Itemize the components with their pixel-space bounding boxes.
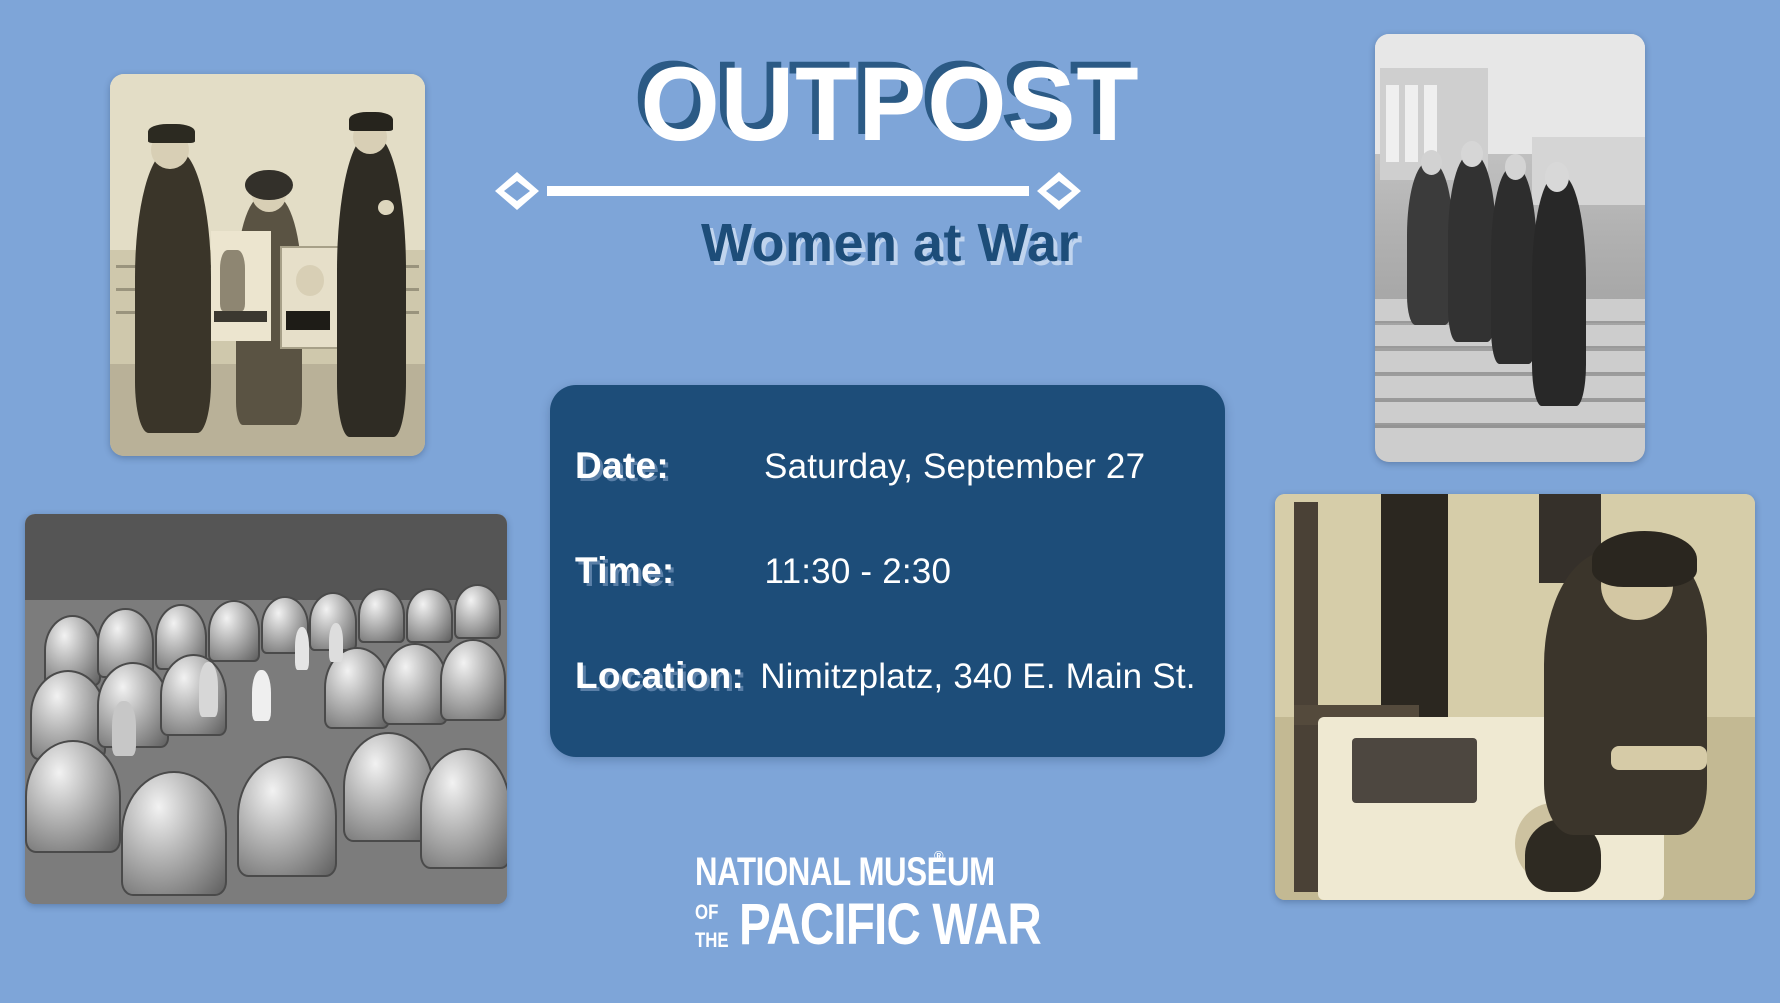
- detail-value-time: 11:30 - 2:30: [765, 552, 952, 592]
- museum-logo: NATIONAL MUSEUM ® OF THE PACIFIC WAR: [640, 838, 1080, 968]
- event-details-card: Date: Saturday, September 27 Time: 11:30…: [550, 385, 1225, 757]
- logo-word-of: OF: [695, 902, 718, 923]
- poster-title: OUTPOST: [502, 52, 1278, 157]
- photo-nurse: [1275, 494, 1755, 900]
- detail-label-date: Date:: [575, 445, 669, 487]
- poster-subtitle: Women at War: [490, 212, 1290, 274]
- detail-label-location: Location:: [575, 655, 744, 697]
- logo-word-the: THE: [695, 930, 729, 951]
- detail-row-location: Location: Nimitzplatz, 340 E. Main St.: [575, 655, 1196, 697]
- logo-line-national-museum: NATIONAL MUSEUM: [695, 852, 995, 892]
- detail-label-time: Time:: [575, 550, 675, 592]
- detail-row-date: Date: Saturday, September 27: [575, 445, 1145, 487]
- detail-row-time: Time: 11:30 - 2:30: [575, 550, 951, 592]
- photo-recruiters: [110, 74, 425, 456]
- detail-value-date: Saturday, September 27: [764, 447, 1145, 487]
- photo-factory: [25, 514, 507, 904]
- photo-capitol: [1375, 34, 1645, 462]
- detail-value-location: Nimitzplatz, 340 E. Main St.: [760, 657, 1195, 697]
- title-block: OUTPOST: [490, 52, 1290, 157]
- registered-trademark-icon: ®: [934, 848, 944, 863]
- diamond-divider-icon: [493, 170, 1083, 212]
- logo-line-pacific-war: PACIFIC WAR: [739, 896, 1041, 954]
- event-poster: OUTPOST Women at War Date: Saturday, Sep…: [0, 0, 1780, 1003]
